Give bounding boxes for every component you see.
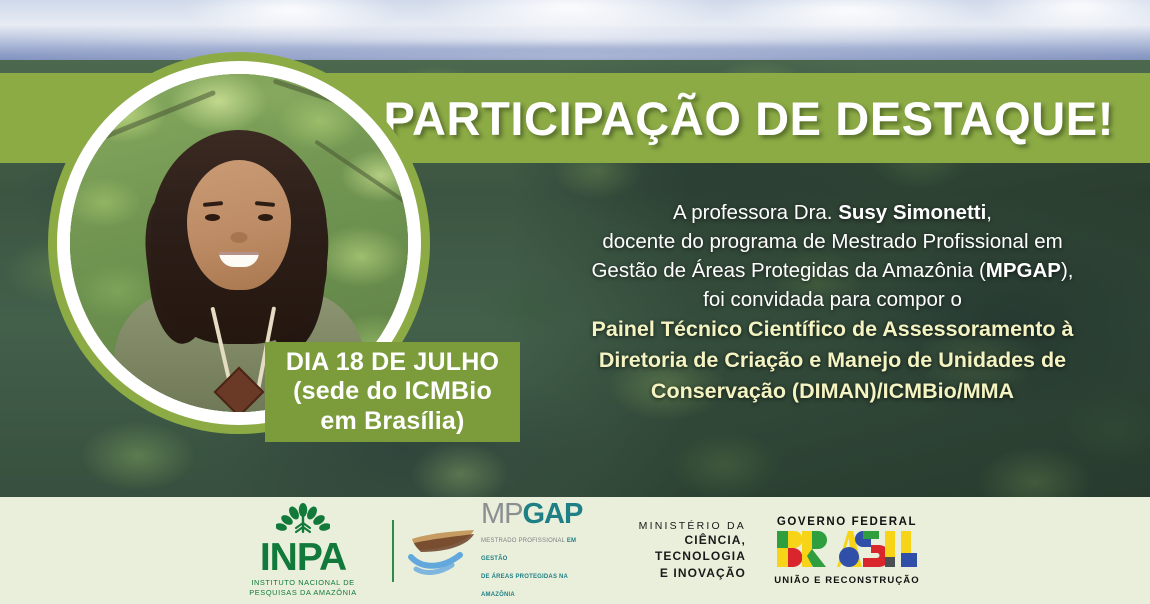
panel-name-line-2: Diretoria de Criação e Manejo de Unidade… <box>560 345 1105 376</box>
body-line-4: foi convidada para compor o <box>703 288 962 311</box>
inpa-wordmark: INPA <box>260 540 346 575</box>
mpgap-wordmark: MPGAP <box>481 498 582 530</box>
mpgap-subtitle: MESTRADO PROFISSIONAL EM GESTÃO DE ÁREAS… <box>481 538 576 598</box>
speaker-name: Susy Simonetti <box>838 201 986 224</box>
mpgap-word-mp: MP <box>481 498 523 530</box>
body-line-1-prefix: A professora Dra. <box>673 201 838 224</box>
canoe-icon <box>408 517 478 584</box>
body-line-1-suffix: , <box>986 201 992 224</box>
date-line-1: DIA 18 DE JULHO <box>286 348 499 378</box>
announcement-text: A professora Dra. Susy Simonetti, docent… <box>560 198 1105 407</box>
governo-federal-label: GOVERNO FEDERAL <box>772 516 922 528</box>
event-date-box: DIA 18 DE JULHO (sede do ICMBio em Brasí… <box>265 342 520 442</box>
inpa-plant-icon <box>276 503 330 540</box>
ministry-line-3: E INOVAÇÃO <box>604 565 746 581</box>
body-line-3-prefix: Gestão de Áreas Protegidas da Amazônia ( <box>591 259 985 282</box>
inpa-subtitle: INSTITUTO NACIONAL DE PESQUISAS DA AMAZÔ… <box>249 578 356 598</box>
portrait-face <box>187 160 291 290</box>
mpgap-subtitle-line-1-light: MESTRADO PROFISSIONAL <box>481 538 567 544</box>
logo-divider <box>392 520 394 582</box>
program-acronym: MPGAP <box>986 259 1061 282</box>
panel-name-line-1: Painel Técnico Científico de Assessorame… <box>560 314 1105 345</box>
governo-federal-tagline: UNIÃO E RECONSTRUÇÃO <box>772 575 922 586</box>
body-line-2: docente do programa de Mestrado Profissi… <box>602 230 1062 253</box>
ministry-line-1: MINISTÉRIO DA <box>604 520 746 532</box>
ministry-line-2: CIÊNCIA, TECNOLOGIA <box>604 532 746 564</box>
mpgap-word-gap: GAP <box>523 498 583 530</box>
logo-row: INPA INSTITUTO NACIONAL DE PESQUISAS DA … <box>228 500 922 601</box>
mpgap-text-block: MPGAP MESTRADO PROFISSIONAL EM GESTÃO DE… <box>481 500 582 601</box>
brasil-wordmark-icon <box>772 531 922 572</box>
inpa-subtitle-line-2: PESQUISAS DA AMAZÔNIA <box>249 588 356 597</box>
inpa-logo[interactable]: INPA INSTITUTO NACIONAL DE PESQUISAS DA … <box>228 503 378 597</box>
footer-logo-bar: INPA INSTITUTO NACIONAL DE PESQUISAS DA … <box>0 497 1150 604</box>
body-line-3-suffix: ), <box>1061 259 1074 282</box>
ministry-logo[interactable]: MINISTÉRIO DA CIÊNCIA, TECNOLOGIA E INOV… <box>604 520 746 581</box>
inpa-subtitle-line-1: INSTITUTO NACIONAL DE <box>251 578 354 587</box>
mpgap-logo[interactable]: MPGAP MESTRADO PROFISSIONAL EM GESTÃO DE… <box>408 500 578 601</box>
date-line-2: (sede do ICMBio <box>293 377 492 407</box>
poster-canvas: PARTICIPAÇÃO DE DESTAQUE! <box>0 0 1150 604</box>
panel-name-line-3: Conservação (DIMAN)/ICMBio/MMA <box>560 376 1105 407</box>
governo-federal-logo[interactable]: GOVERNO FEDERAL <box>772 516 922 586</box>
date-line-3: em Brasília) <box>320 407 464 437</box>
mpgap-subtitle-line-2: DE ÁREAS PROTEGIDAS NA AMAZÔNIA <box>481 574 568 598</box>
